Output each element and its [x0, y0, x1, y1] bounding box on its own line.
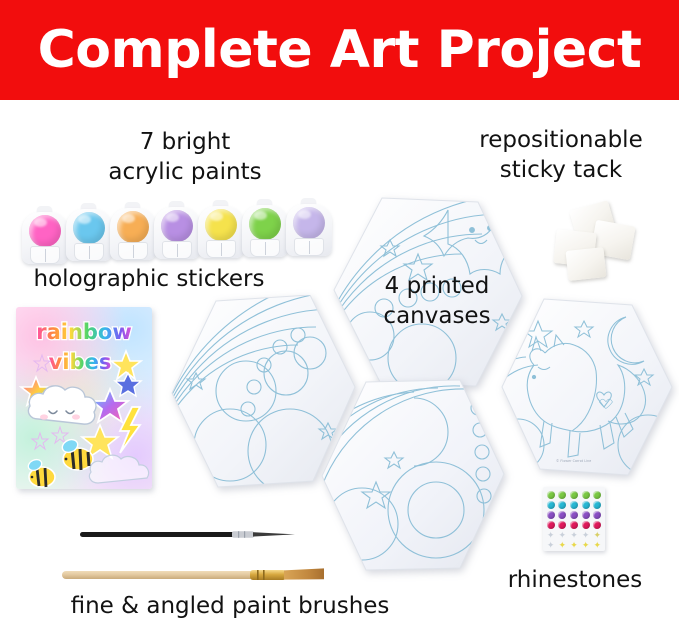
- gem: [582, 501, 590, 509]
- gem-row-pink: [543, 521, 605, 529]
- rhinestone-sheet: ✦ ✦ ✦ ✦ ✦ ✦ ✦ ✦ ✦ ✦: [543, 487, 605, 551]
- pot-base: [118, 242, 148, 260]
- gem: [547, 521, 555, 529]
- sticker-sheet-art: rainbow vibes: [16, 307, 152, 489]
- star-gem-icon: ✦: [593, 531, 601, 539]
- gem: [570, 521, 578, 529]
- tack-piece: [566, 247, 607, 281]
- pot-gloss: [78, 215, 91, 224]
- star-gem-icon: ✦: [558, 531, 566, 539]
- paint-pot-light-blue: [66, 203, 112, 263]
- pot-base: [206, 240, 236, 258]
- pot-gloss: [122, 214, 135, 223]
- gem-row-purple: [543, 511, 605, 519]
- fine-paint-brush: [80, 527, 310, 543]
- star-gem-icon: ✦: [558, 541, 566, 549]
- gem-row-green: [543, 491, 605, 499]
- canvas-rainbow-arcs-bottom: [318, 378, 508, 576]
- canvas-unicorn-right: [498, 295, 676, 481]
- paint-pot-pink: [22, 206, 68, 266]
- paint-pot-green: [242, 199, 288, 259]
- canvas-bottom-art: [318, 378, 508, 576]
- gem: [570, 491, 578, 499]
- paint-pot-yellow: [198, 200, 244, 260]
- brush-ferrule: [232, 531, 254, 538]
- brush-bristles: [284, 568, 324, 579]
- header-banner: Complete Art Project: [0, 0, 679, 100]
- pot-base: [162, 241, 192, 259]
- gem: [570, 511, 578, 519]
- brush-handle: [62, 571, 254, 579]
- gem: [547, 491, 555, 499]
- bee-sticker-small: [27, 458, 55, 487]
- angled-brush-art: [62, 565, 342, 585]
- canvas-credit-text: © Flower Carrot Line: [556, 459, 591, 463]
- gem: [558, 521, 566, 529]
- gem: [547, 501, 555, 509]
- label-rhinestones: rhinestones: [480, 566, 670, 596]
- product-infographic: Complete Art Project 7 bright acrylic pa…: [0, 0, 679, 627]
- star-gem-icon: ✦: [570, 541, 578, 549]
- label-holographic-stickers: holographic stickers: [4, 265, 294, 295]
- gem-row-clear-stars: ✦ ✦ ✦ ✦ ✦: [543, 531, 605, 539]
- pot-gloss: [166, 213, 179, 222]
- gem: [547, 511, 555, 519]
- gem: [582, 511, 590, 519]
- gem: [570, 501, 578, 509]
- fine-brush-art: [80, 527, 310, 543]
- brush-ferrule: [250, 570, 286, 580]
- label-sticky-tack: repositionable sticky tack: [450, 126, 672, 186]
- label-paint-brushes: fine & angled paint brushes: [20, 592, 440, 622]
- gem: [593, 511, 601, 519]
- gem: [593, 501, 601, 509]
- gem: [558, 491, 566, 499]
- angled-paint-brush: [62, 565, 342, 585]
- gem: [593, 491, 601, 499]
- gem: [582, 521, 590, 529]
- paint-pot-strip: [22, 198, 332, 260]
- pot-gloss: [254, 211, 267, 220]
- pot-base: [250, 239, 280, 257]
- paint-pot-orange: [110, 202, 156, 262]
- label-printed-canvases: 4 printed canvases: [352, 272, 522, 332]
- pot-base: [30, 246, 60, 264]
- pot-base: [74, 243, 104, 261]
- pot-base: [294, 238, 324, 256]
- pot-gloss: [298, 210, 311, 219]
- star-gem-icon: ✦: [570, 531, 578, 539]
- gem: [558, 511, 566, 519]
- gem: [582, 491, 590, 499]
- gem: [593, 521, 601, 529]
- paint-pot-purple: [154, 201, 200, 261]
- gem-row-cyan: [543, 501, 605, 509]
- sticky-tack-group: [545, 205, 641, 281]
- label-acrylic-paints: 7 bright acrylic paints: [60, 128, 310, 188]
- gem-row-yellow-stars: ✦ ✦ ✦ ✦ ✦: [543, 541, 605, 549]
- page-title: Complete Art Project: [38, 24, 642, 76]
- star-gem-icon: ✦: [547, 541, 555, 549]
- pot-gloss: [210, 212, 223, 221]
- holographic-sticker-sheet: rainbow vibes: [16, 307, 152, 489]
- brush-handle: [80, 532, 235, 537]
- brush-bristles: [253, 532, 295, 536]
- star-gem-icon: ✦: [547, 531, 555, 539]
- star-gem-icon: ✦: [593, 541, 601, 549]
- star-gem-icon: ✦: [582, 541, 590, 549]
- gem: [558, 501, 566, 509]
- sticker-title-line2: vibes: [49, 350, 112, 374]
- paint-pot-lavender: [286, 198, 332, 258]
- star-gem-icon: ✦: [582, 531, 590, 539]
- pot-gloss: [34, 218, 47, 227]
- canvas-unicorn-art: [498, 295, 676, 481]
- sticker-title-line1: rainbow: [36, 320, 132, 344]
